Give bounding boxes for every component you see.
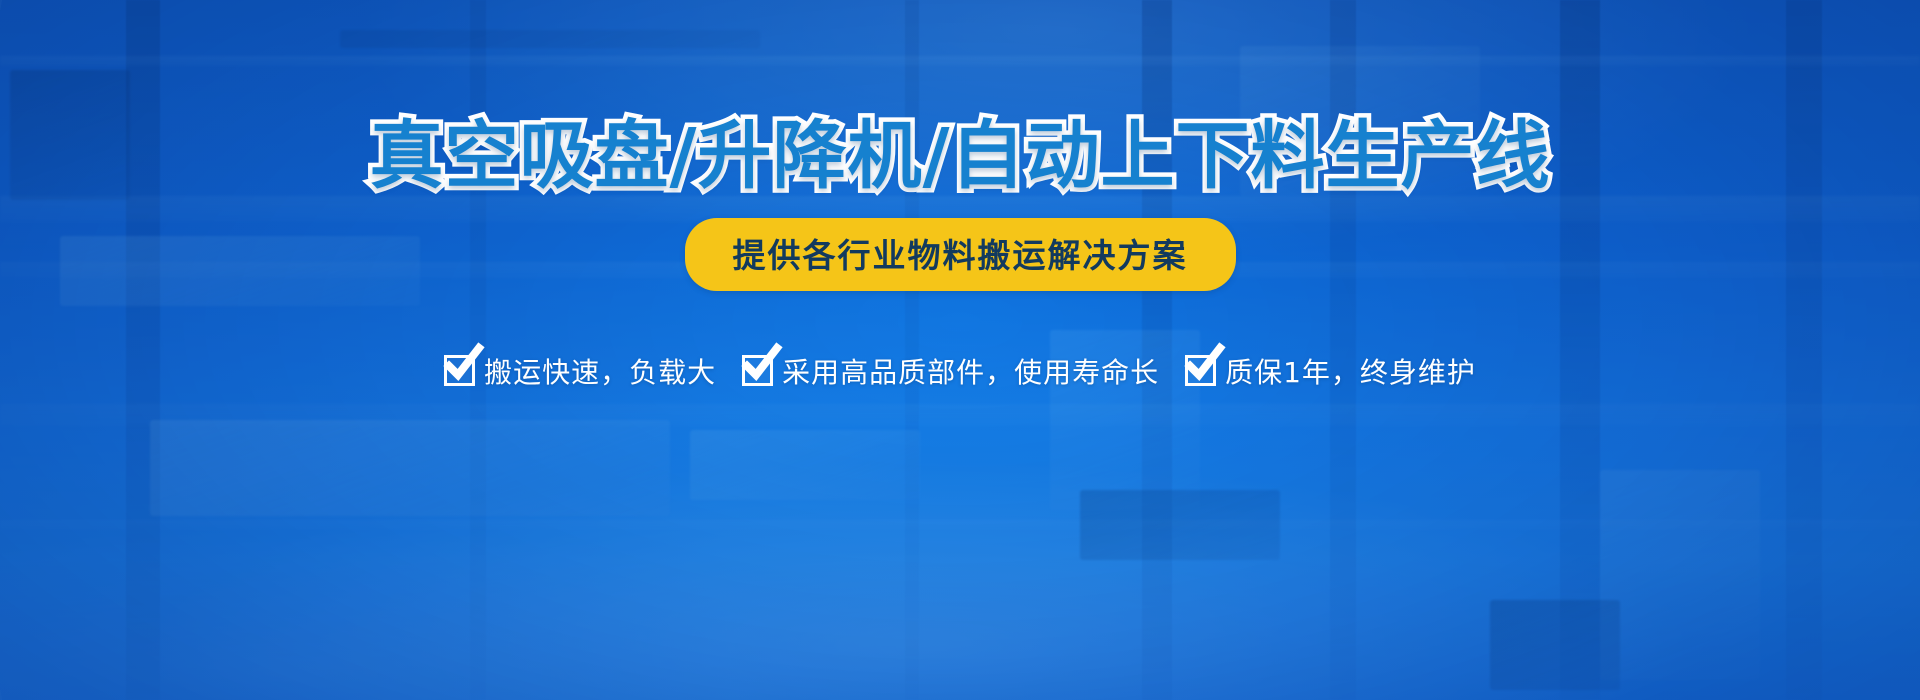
- feature-label: 采用高品质部件，使用寿命长: [782, 351, 1159, 391]
- checkbox-checked-icon: [444, 355, 475, 386]
- banner-title: 真空吸盘/升降机/自动上下料生产线: [369, 118, 1550, 196]
- feature-label: 搬运快速，负载大: [484, 351, 716, 391]
- feature-item: 采用高品质部件，使用寿命长: [742, 351, 1159, 391]
- feature-list: 搬运快速，负载大 采用高品质部件，使用寿命长 质保1年，终身维护: [444, 351, 1476, 391]
- banner-content: 真空吸盘/升降机/自动上下料生产线 提供各行业物料搬运解决方案 搬运快速，负载大…: [0, 0, 1920, 700]
- feature-label: 质保1年，终身维护: [1225, 351, 1476, 391]
- hero-banner: 真空吸盘/升降机/自动上下料生产线 提供各行业物料搬运解决方案 搬运快速，负载大…: [0, 0, 1920, 700]
- checkbox-checked-icon: [1185, 355, 1216, 386]
- feature-item: 搬运快速，负载大: [444, 351, 716, 391]
- banner-subtitle-badge: 提供各行业物料搬运解决方案: [685, 218, 1236, 291]
- feature-item: 质保1年，终身维护: [1185, 351, 1476, 391]
- checkbox-checked-icon: [742, 355, 773, 386]
